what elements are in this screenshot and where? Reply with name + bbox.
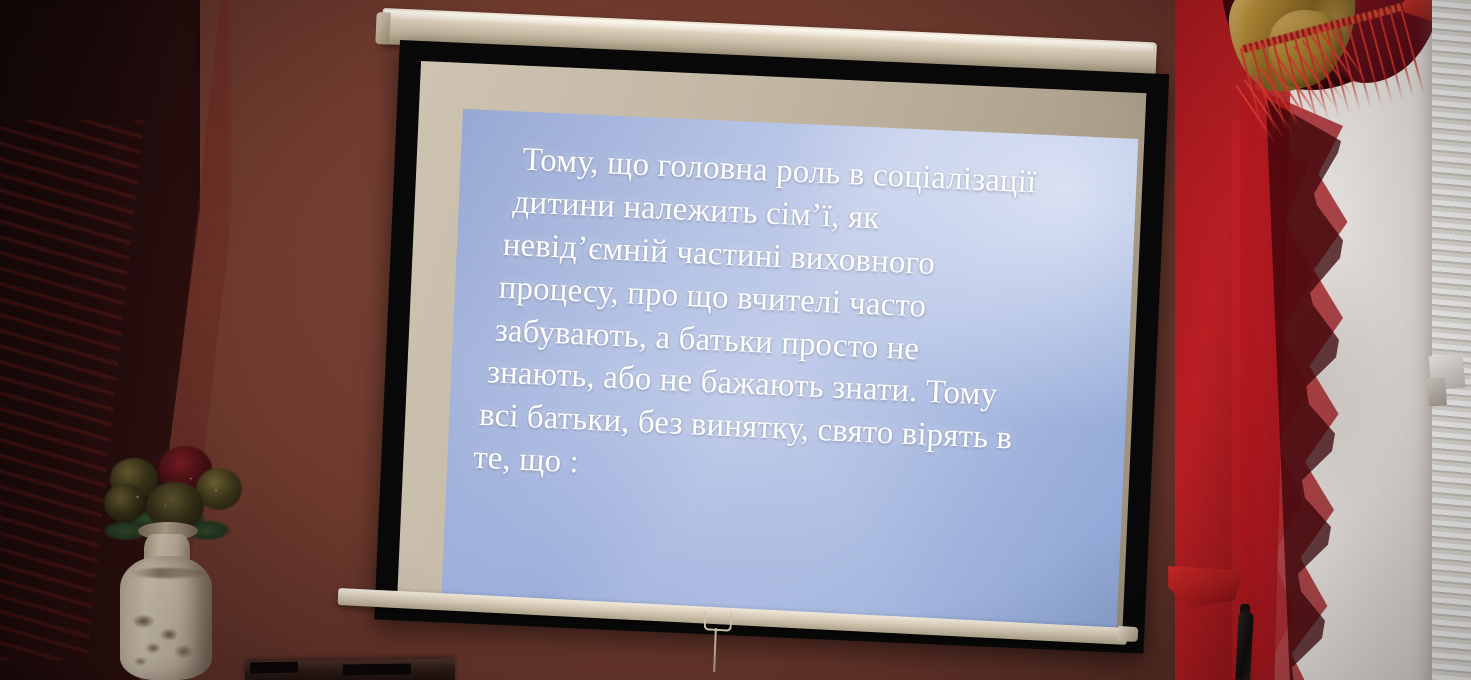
shelf-cap-right: [343, 664, 411, 676]
white-venetian-blinds: [1432, 0, 1471, 680]
screen-black-border: Тому, що головна роль в соціалізації дит…: [374, 40, 1169, 654]
roller-casing-endcap: [375, 12, 390, 45]
shelf-cap-left: [250, 662, 298, 674]
slide-text-block: Тому, що головна роль в соціалізації дит…: [480, 137, 1110, 507]
blinds-bracket: [1427, 377, 1447, 406]
screen-fabric-margin: Тому, що головна роль в соціалізації дит…: [397, 61, 1146, 631]
projection-screen-assembly: Тому, що головна роль в соціалізації дит…: [330, 0, 1160, 652]
vase-decoration: [126, 596, 206, 680]
room-photo-scene: Тому, що головна роль в соціалізації дит…: [0, 0, 1471, 680]
projected-slide: Тому, що головна роль в соціалізації дит…: [441, 109, 1138, 629]
vase-band: [130, 568, 204, 578]
pull-hook[interactable]: [704, 611, 733, 631]
weight-bar-endcap: [1118, 626, 1139, 642]
